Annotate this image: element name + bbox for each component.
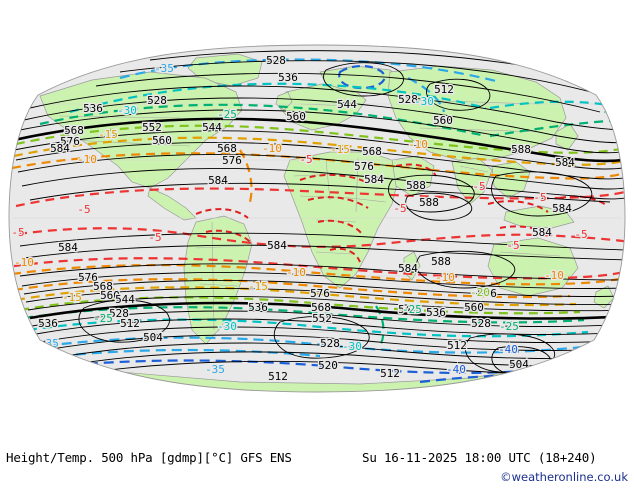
isotherm-label: -15 — [98, 128, 118, 141]
isotherm-label: -5 — [299, 153, 312, 166]
isotherm-label: -40 — [446, 363, 466, 376]
height-contour-label: 588 — [511, 143, 531, 156]
isotherm-label: -5 — [506, 239, 519, 252]
isotherm-label: -5 — [574, 228, 587, 241]
isotherm-label: -5 — [11, 226, 24, 239]
height-contour-label: 552 — [312, 312, 332, 325]
isotherm-label: -10 — [408, 138, 428, 151]
isotherm-label: -15 — [62, 291, 82, 304]
height-contour-label: 568 — [362, 145, 382, 158]
height-contour-label: 528 — [266, 54, 286, 67]
isotherm-label: -25 — [499, 320, 519, 333]
copyright-credit: ©weatheronline.co.uk — [500, 470, 628, 484]
isotherm-label: -15 — [248, 280, 268, 293]
isotherm-label: -5 — [77, 203, 90, 216]
height-contour-label: 560 — [152, 134, 172, 147]
height-contour-label: 512 — [268, 370, 288, 383]
height-contour-label: 512 — [434, 83, 454, 96]
weather-map-panel: 5285365125365285445285605605525445685605… — [0, 0, 634, 420]
isotherm-label: -25 — [217, 108, 237, 121]
height-contour-label: 512 — [380, 367, 400, 380]
height-contour-label: 552 — [142, 121, 162, 134]
height-contour-label: 584 — [555, 156, 575, 169]
height-contour-label: 584 — [267, 239, 287, 252]
height-contour-label: 584 — [50, 142, 70, 155]
height-contour-label: 576 — [310, 287, 330, 300]
chart-footer: Height/Temp. 500 hPa [gdmp][°C] GFS ENS … — [0, 420, 634, 490]
isotherm-label: -40 — [498, 343, 518, 356]
isotherm-label: -30 — [217, 320, 237, 333]
isotherm-label: -25 — [402, 303, 422, 316]
isotherm-label: -10 — [14, 256, 34, 269]
height-contour-label: 544 — [337, 98, 357, 111]
height-contour-label: 588 — [419, 196, 439, 209]
height-contour-label: 528 — [471, 317, 491, 330]
isotherm-label: -10 — [77, 153, 97, 166]
isotherm-label: -35 — [154, 62, 174, 75]
isotherm-label: -20 — [470, 286, 490, 299]
height-contour-label: 560 — [286, 110, 306, 123]
height-contour-label: 544 — [115, 293, 135, 306]
isotherm-label: -5 — [472, 180, 485, 193]
height-contour-label: 560 — [464, 301, 484, 314]
height-contour-label: 584 — [58, 241, 78, 254]
isotherm-label: -25 — [93, 312, 113, 325]
isotherm-label: -10 — [262, 142, 282, 155]
height-contour-label: 544 — [202, 121, 222, 134]
height-contour-label: 588 — [431, 255, 451, 268]
height-contour-label: 536 — [248, 301, 268, 314]
isotherm-label: -30 — [414, 95, 434, 108]
isotherm-label: -10 — [286, 266, 306, 279]
isotherm-label: -30 — [117, 104, 137, 117]
isotherm-label: -15 — [330, 143, 350, 156]
height-contour-label: 588 — [406, 179, 426, 192]
height-contour-label: 536 — [83, 102, 103, 115]
isotherm-label: -10 — [435, 271, 455, 284]
isotherm-label: -5 — [393, 202, 406, 215]
height-contour-label: 584 — [532, 226, 552, 239]
height-contour-label: 528 — [320, 337, 340, 350]
isotherm-label: -10 — [544, 269, 564, 282]
height-contour-label: 520 — [318, 359, 338, 372]
height-contour-label: 584 — [398, 262, 418, 275]
height-contour-label: 512 — [120, 317, 140, 330]
height-contour-label: 528 — [147, 94, 167, 107]
height-contour-label: 512 — [447, 339, 467, 352]
height-contour-label: 536 — [278, 71, 298, 84]
global-500hpa-contour-map: 5285365125365285445285605605525445685605… — [0, 0, 634, 420]
height-contour-label: 584 — [364, 173, 384, 186]
isotherm-label: -35 — [205, 363, 225, 376]
height-contour-label: 576 — [222, 154, 242, 167]
height-contour-label: 584 — [208, 174, 228, 187]
chart-title: Height/Temp. 500 hPa [gdmp][°C] GFS ENS — [6, 450, 292, 465]
isotherm-label: -5 — [148, 231, 161, 244]
height-contour-label: 584 — [552, 202, 572, 215]
height-contour-label: 560 — [433, 114, 453, 127]
isotherm-label: -5 — [533, 191, 546, 204]
height-contour-label: 536 — [426, 306, 446, 319]
isotherm-label: -30 — [342, 340, 362, 353]
height-contour-label: 536 — [38, 317, 58, 330]
height-contour-label: 576 — [354, 160, 374, 173]
height-contour-label: 504 — [143, 331, 163, 344]
chart-valid-time: Su 16-11-2025 18:00 UTC (18+240) — [362, 450, 596, 465]
